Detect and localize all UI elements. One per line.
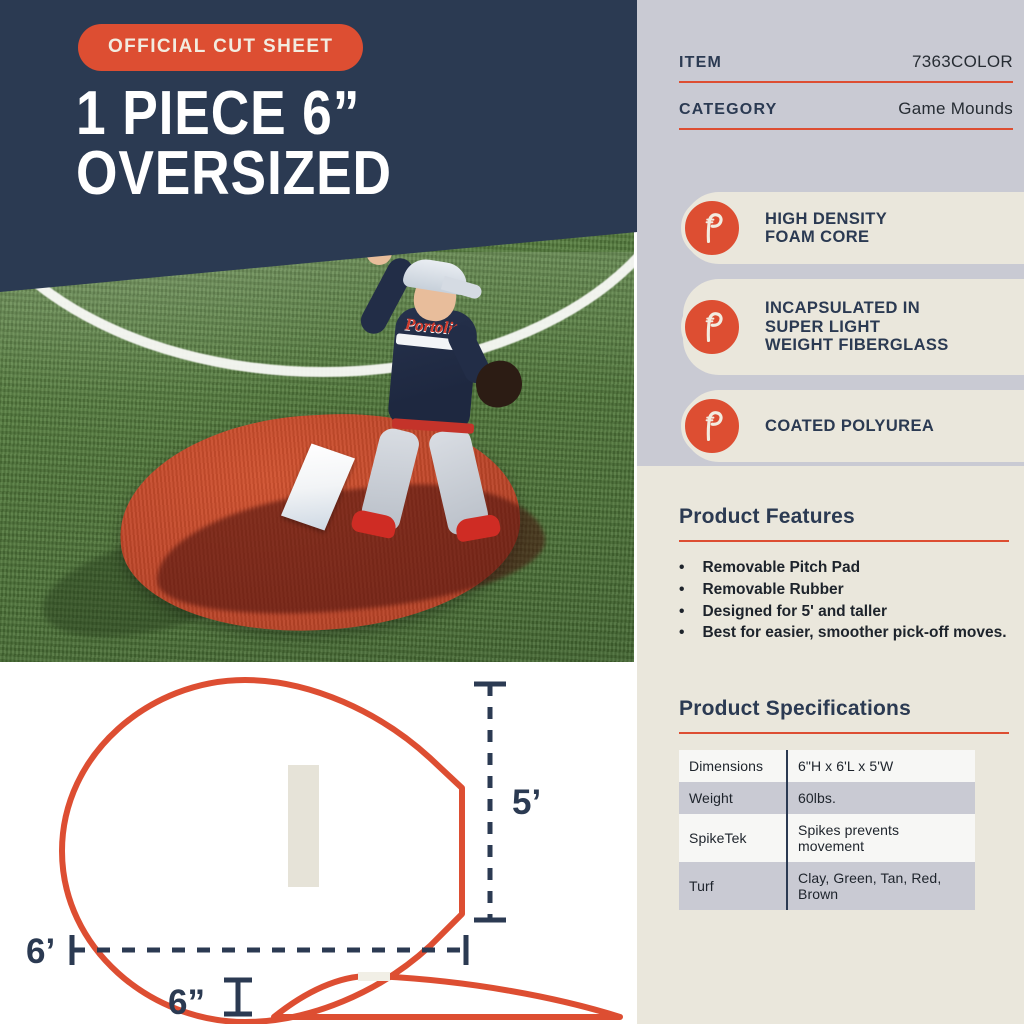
specs-table: Dimensions 6"H x 6'L x 5'W Weight 60lbs.…: [679, 750, 975, 910]
badge-line: WEIGHT FIBERGLASS: [765, 336, 949, 354]
feature-text: Removable Pitch Pad: [702, 558, 860, 578]
list-item: • Designed for 5' and taller: [679, 602, 1009, 622]
spec-value: Clay, Green, Tan, Red, Brown: [787, 862, 975, 910]
specs-title: Product Specifications: [679, 697, 1009, 721]
construction-badges: HIGH DENSITY FOAM CORE INCAPSULATED IN S…: [637, 192, 1024, 477]
width-dimension-label: 5’: [512, 783, 541, 822]
height-dimension-label: 6”: [168, 983, 205, 1022]
page-title-line-2: OVERSIZED: [76, 144, 540, 204]
portolite-p-icon-glyph: [695, 211, 729, 245]
length-dimension-label: 6’: [26, 932, 55, 971]
bullet-icon: •: [679, 580, 684, 600]
bullet-icon: •: [679, 623, 684, 643]
pitcher-figure: Portolite: [330, 245, 580, 525]
mound-top-view-outline: [62, 680, 462, 1022]
feature-text: Best for easier, smoother pick-off moves…: [702, 623, 1006, 643]
product-specifications-section: Product Specifications Dimensions 6"H x …: [679, 697, 1009, 910]
category-label: CATEGORY: [679, 101, 778, 119]
spec-key: SpikeTek: [679, 814, 787, 862]
badge-line: FOAM CORE: [765, 228, 869, 246]
diagram-svg: 5’ 6’ 6”: [0, 662, 637, 1024]
specs-divider: [679, 732, 1009, 734]
badge-row-polyurea: COATED POLYUREA: [637, 390, 1024, 462]
category-value: Game Mounds: [898, 99, 1013, 119]
spec-key: Turf: [679, 862, 787, 910]
cut-sheet-badge-label: OFFICIAL CUT SHEET: [108, 36, 333, 58]
badge-line: HIGH DENSITY: [765, 210, 887, 228]
badge-line: SUPER LIGHT: [765, 318, 880, 336]
spec-key: Dimensions: [679, 750, 787, 782]
bullet-icon: •: [679, 602, 684, 622]
left-column: Portolite OFFICIAL CUT SHEET 1 PIECE 6” …: [0, 0, 637, 1024]
list-item: • Best for easier, smoother pick-off mov…: [679, 623, 1009, 643]
pitching-rubber-side-view: [358, 972, 390, 981]
features-title: Product Features: [679, 505, 1009, 529]
spec-key: Weight: [679, 782, 787, 814]
meta-divider: [679, 81, 1013, 83]
product-features-section: Product Features • Removable Pitch Pad •…: [679, 505, 1009, 645]
list-item: • Removable Pitch Pad: [679, 558, 1009, 578]
table-row: Weight 60lbs.: [679, 782, 975, 814]
spec-value: 60lbs.: [787, 782, 975, 814]
info-sidebar: ITEM 7363COLOR CATEGORY Game Mounds: [637, 0, 1024, 1024]
item-value: 7363COLOR: [912, 52, 1013, 72]
list-item: • Removable Rubber: [679, 580, 1009, 600]
item-label: ITEM: [679, 54, 722, 72]
features-divider: [679, 540, 1009, 542]
badge-label: COATED POLYUREA: [765, 417, 934, 435]
table-row: Dimensions 6"H x 6'L x 5'W: [679, 750, 975, 782]
portolite-p-icon: [681, 296, 743, 358]
badge-label: HIGH DENSITY FOAM CORE: [765, 210, 887, 247]
table-row: SpikeTek Spikes prevents movement: [679, 814, 975, 862]
feature-text: Removable Rubber: [702, 580, 843, 600]
badge-row-foam-core: HIGH DENSITY FOAM CORE: [637, 192, 1024, 264]
portolite-p-icon: [681, 395, 743, 457]
page-title: 1 PIECE 6” OVERSIZED: [76, 84, 540, 203]
portolite-p-icon: [681, 197, 743, 259]
features-list: • Removable Pitch Pad • Removable Rubber…: [679, 558, 1009, 643]
length-dimension-6ft: 6’: [26, 932, 466, 971]
pitching-rubber-diagram: [288, 765, 319, 887]
portolite-p-icon-glyph: [695, 310, 729, 344]
meta-row-item: ITEM 7363COLOR: [679, 52, 1013, 83]
badge-label: INCAPSULATED IN SUPER LIGHT WEIGHT FIBER…: [765, 299, 949, 354]
cut-sheet-page: Portolite OFFICIAL CUT SHEET 1 PIECE 6” …: [0, 0, 1024, 1024]
meta-divider: [679, 128, 1013, 130]
product-meta: ITEM 7363COLOR CATEGORY Game Mounds: [679, 52, 1013, 146]
badge-line: INCAPSULATED IN: [765, 299, 920, 317]
table-row: Turf Clay, Green, Tan, Red, Brown: [679, 862, 975, 910]
page-title-line-1: 1 PIECE 6”: [76, 79, 360, 148]
feature-text: Designed for 5' and taller: [702, 602, 887, 622]
bullet-icon: •: [679, 558, 684, 578]
width-dimension-5ft: 5’: [474, 684, 541, 920]
spec-value: Spikes prevents movement: [787, 814, 975, 862]
portolite-p-icon-glyph: [695, 409, 729, 443]
cut-sheet-badge: OFFICIAL CUT SHEET: [78, 24, 363, 71]
badge-row-fiberglass: INCAPSULATED IN SUPER LIGHT WEIGHT FIBER…: [637, 279, 1024, 375]
spec-value: 6"H x 6'L x 5'W: [787, 750, 975, 782]
badge-line: COATED POLYUREA: [765, 417, 934, 435]
dimension-diagram: 5’ 6’ 6”: [0, 662, 637, 1024]
meta-row-category: CATEGORY Game Mounds: [679, 99, 1013, 130]
